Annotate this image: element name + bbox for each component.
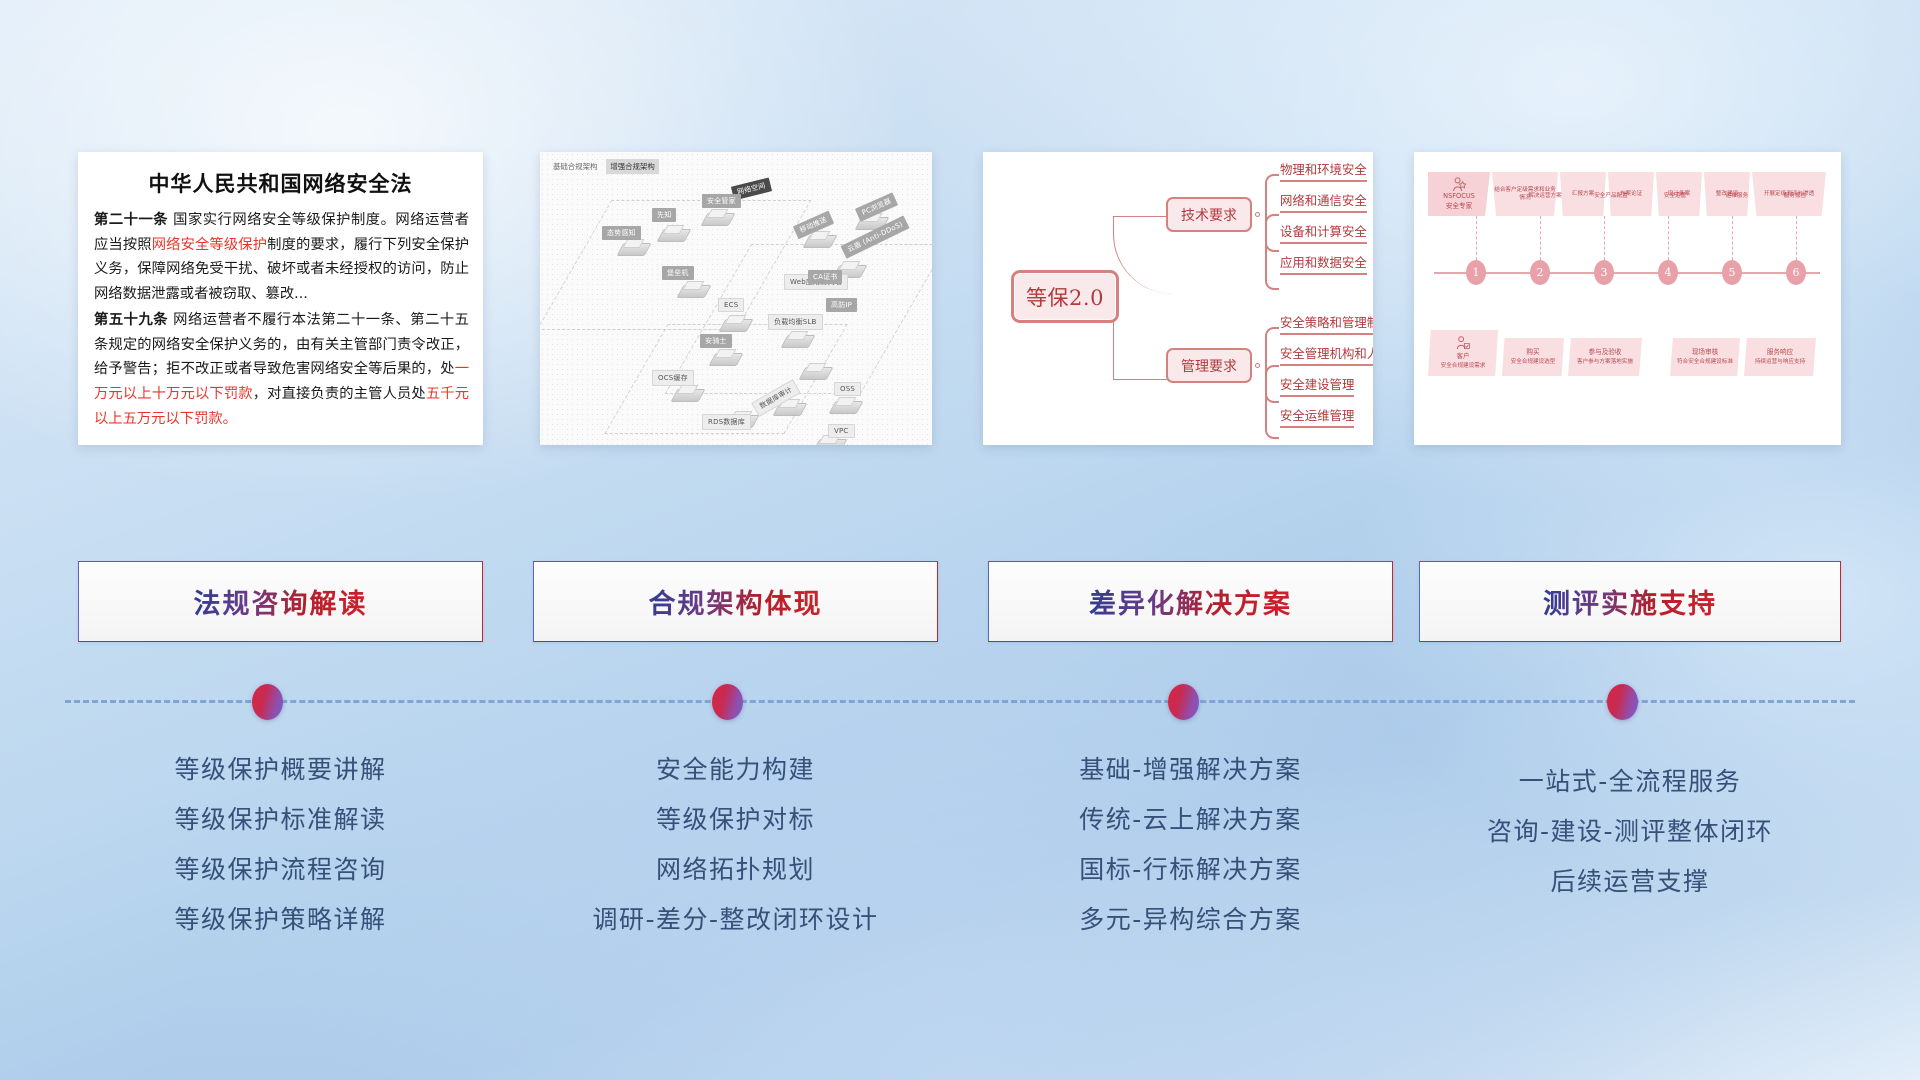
node-anti-ddos-ip: 高防IP xyxy=(826,298,857,312)
connector-technical-leaves-lower xyxy=(1265,214,1279,290)
card-cloud-architecture: 基础合规架构 增强合规架构 网络空间 xyxy=(540,152,932,445)
timeline-step-5[interactable]: 5 xyxy=(1722,260,1742,285)
law-article-21: 第二十一条 国家实行网络安全等级保护制度。网络运营者应当按照网络安全等级保护制度… xyxy=(94,208,469,306)
step-label-1: 解决运营方案 xyxy=(1520,186,1570,206)
timeline-stem-2 xyxy=(1540,216,1541,260)
timeline-step-4[interactable]: 4 xyxy=(1658,260,1678,285)
mindmap-branch-management: 管理要求 xyxy=(1166,348,1252,383)
step-label-3: 安全运营 xyxy=(1652,186,1698,206)
node-ecs: ECS xyxy=(718,298,744,312)
icon-cube-bastion xyxy=(680,280,706,297)
article-21-label: 第二十一条 xyxy=(94,212,168,228)
mindmap-leaf-operation: 安全运维管理 xyxy=(1280,408,1354,428)
timeline-stem-1 xyxy=(1476,216,1477,260)
footer-chip-service-response: 服务响应 持续运营与响应支持 xyxy=(1744,338,1816,376)
card-service-timeline: NSFOCUS 安全专家 结合客户定级需求和业务情况 汇报方案 方案论证 设计备… xyxy=(1414,152,1841,445)
bullet-item: 等级保护概要讲解 xyxy=(78,745,483,795)
mindmap-collapse-dot-management[interactable] xyxy=(1255,363,1260,368)
bullet-item: 网络拓扑规划 xyxy=(533,845,938,895)
node-security-agent: 安骑士 xyxy=(700,334,732,348)
icon-cube-slb xyxy=(784,330,810,347)
heading-label-4: 测评实施支持 xyxy=(1543,582,1717,621)
heading-box-assessment-support[interactable]: 测评实施支持 xyxy=(1419,561,1841,642)
bullet-item: 传统-云上解决方案 xyxy=(988,795,1393,845)
mindmap-leaf-policy: 安全策略和管理制度 xyxy=(1280,315,1373,335)
node-oss: OSS xyxy=(834,382,861,396)
timeline-axis xyxy=(1434,272,1820,274)
nsfocus-expert-line1: NSFOCUS xyxy=(1443,192,1475,202)
icon-cube-xianzhi xyxy=(660,224,686,241)
bullet-item: 调研-差分-整改闭环设计 xyxy=(533,895,938,945)
mindmap-collapse-dot-technical[interactable] xyxy=(1255,212,1260,217)
tab-enhanced-compliance[interactable]: 增强合规架构 xyxy=(606,159,658,174)
bullet-item: 咨询-建设-测评整体闭环 xyxy=(1419,807,1841,857)
bullet-item: 等级保护标准解读 xyxy=(78,795,483,845)
icon-cube-ecs xyxy=(722,314,748,331)
bullet-item: 国标-行标解决方案 xyxy=(988,845,1393,895)
service-timeline: NSFOCUS 安全专家 结合客户定级需求和业务情况 汇报方案 方案论证 设计备… xyxy=(1414,152,1841,445)
heading-box-regulatory-consulting[interactable]: 法规咨询解读 xyxy=(78,561,483,642)
bullet-item: 安全能力构建 xyxy=(533,745,938,795)
expert-person-icon xyxy=(1452,177,1466,192)
bullet-column-3: 基础-增强解决方案 传统-云上解决方案 国标-行标解决方案 多元-异构综合方案 xyxy=(988,745,1393,945)
node-rds-database: RDS数据库 xyxy=(702,414,751,430)
bullet-item: 等级保护对标 xyxy=(533,795,938,845)
heading-box-differentiated-solution[interactable]: 差异化解决方案 xyxy=(988,561,1393,642)
node-ocs-cache: OCS缓存 xyxy=(652,370,694,386)
architecture-tabs: 基础合规架构 增强合规架构 xyxy=(549,159,659,174)
timeline-marker-3[interactable] xyxy=(1168,684,1199,720)
article-21-highlight: 网络安全等级保护 xyxy=(152,237,267,253)
mindmap-leaf-device: 设备和计算安全 xyxy=(1280,224,1367,244)
nsfocus-expert-chip: NSFOCUS 安全专家 xyxy=(1428,172,1490,216)
nsfocus-expert-line2: 安全专家 xyxy=(1446,202,1472,212)
node-vpc: VPC xyxy=(828,424,855,438)
bullet-column-2: 安全能力构建 等级保护对标 网络拓扑规划 调研-差分-整改闭环设计 xyxy=(533,745,938,945)
step-label-5: 服务报告 xyxy=(1772,186,1818,206)
node-ca-certificate: CA证书 xyxy=(808,270,842,284)
law-article-59: 第五十九条 网络运营者不履行本法第二十一条、第二十五条规定的网络安全保护义务的，… xyxy=(94,308,469,431)
heading-label-3: 差异化解决方案 xyxy=(1089,582,1292,621)
mindmap-branch-technical: 技术要求 xyxy=(1166,197,1252,232)
mindmap-diagram: 等保2.0 技术要求 物理和环境安全 网络和通信安全 设备和计算安全 应用和数据… xyxy=(983,152,1373,445)
connector-management-leaves-lower xyxy=(1265,365,1279,439)
footer-chip-purchase: 购买 安全合规建设选型 xyxy=(1502,338,1564,376)
heading-box-compliance-architecture[interactable]: 合规架构体现 xyxy=(533,561,938,642)
bullet-item: 等级保护流程咨询 xyxy=(78,845,483,895)
mindmap-leaf-build: 安全建设管理 xyxy=(1280,377,1354,397)
tab-basic-compliance[interactable]: 基础合规架构 xyxy=(549,159,601,174)
node-load-balancer: 负载均衡SLB xyxy=(768,314,823,330)
mindmap-root: 等保2.0 xyxy=(1011,270,1119,323)
icon-cube-situational xyxy=(620,238,646,255)
timeline-step-2[interactable]: 2 xyxy=(1530,260,1550,285)
timeline-stem-3 xyxy=(1604,216,1605,260)
customer-person-icon xyxy=(1456,336,1470,352)
mindmap-leaf-org: 安全管理机构和人员 xyxy=(1280,346,1373,366)
card-law-document: 中华人民共和国网络安全法 第二十一条 国家实行网络安全等级保护制度。网络运营者应… xyxy=(78,152,483,445)
timeline-marker-1[interactable] xyxy=(252,684,283,720)
timeline-step-1[interactable]: 1 xyxy=(1466,260,1486,285)
timeline-stem-4 xyxy=(1668,216,1669,260)
icon-cube-oss xyxy=(832,396,858,413)
bullet-item: 基础-增强解决方案 xyxy=(988,745,1393,795)
icon-cube-agent xyxy=(712,348,738,365)
footer-chip-participate: 参与及验收 客户参与方案落地实施 xyxy=(1568,338,1642,376)
architecture-diagram: 基础合规架构 增强合规架构 网络空间 xyxy=(540,152,932,445)
timeline-marker-2[interactable] xyxy=(712,684,743,720)
bullet-item: 多元-异构综合方案 xyxy=(988,895,1393,945)
icon-cube-ocs xyxy=(674,384,700,401)
mindmap-leaf-network: 网络和通信安全 xyxy=(1280,193,1367,213)
bullet-item: 后续运营支撑 xyxy=(1419,857,1841,907)
node-situational-awareness: 态势感知 xyxy=(602,226,641,240)
node-bastion-host: 堡垒机 xyxy=(662,266,694,280)
timeline-marker-4[interactable] xyxy=(1607,684,1638,720)
card-mindmap: 等保2.0 技术要求 物理和环境安全 网络和通信安全 设备和计算安全 应用和数据… xyxy=(983,152,1373,445)
slide-canvas: 中华人民共和国网络安全法 第二十一条 国家实行网络安全等级保护制度。网络运营者应… xyxy=(0,0,1920,1080)
mindmap-leaf-physical: 物理和环境安全 xyxy=(1280,162,1367,182)
icon-cube-guardian xyxy=(704,208,730,225)
law-body: 第二十一条 国家实行网络安全等级保护制度。网络运营者应当按照网络安全等级保护制度… xyxy=(78,198,483,431)
timeline-stem-5 xyxy=(1732,216,1733,260)
bullet-item: 等级保护策略详解 xyxy=(78,895,483,945)
bullet-column-1: 等级保护概要讲解 等级保护标准解读 等级保护流程咨询 等级保护策略详解 xyxy=(78,745,483,945)
law-title: 中华人民共和国网络安全法 xyxy=(78,168,483,198)
bullet-item: 一站式-全流程服务 xyxy=(1419,757,1841,807)
footer-chip-customer: 客户 安全合规建设需求 xyxy=(1428,330,1498,376)
timeline-step-3[interactable]: 3 xyxy=(1594,260,1614,285)
step-label-2: 安全产品配置 xyxy=(1586,186,1636,206)
article-59-label: 第五十九条 xyxy=(94,312,168,328)
step-label-4: 运维服务 xyxy=(1714,186,1760,206)
timeline-step-6[interactable]: 6 xyxy=(1786,260,1806,285)
heading-label-2: 合规架构体现 xyxy=(649,582,823,621)
node-xianzhi: 先知 xyxy=(652,208,676,222)
heading-label-1: 法规咨询解读 xyxy=(194,582,368,621)
node-security-steward: 安全管家 xyxy=(702,194,741,208)
timeline-stem-6 xyxy=(1796,216,1797,260)
bullet-column-4: 一站式-全流程服务 咨询-建设-测评整体闭环 后续运营支撑 xyxy=(1419,757,1841,907)
icon-cube-waf xyxy=(802,362,828,379)
timeline-dashed-rail xyxy=(65,700,1855,703)
article-59-text-b: ，对直接负责的主管人员处 xyxy=(253,386,426,402)
footer-chip-onsite-review: 现场审核 符合安全合规建设标准 xyxy=(1670,338,1740,376)
mindmap-leaf-application: 应用和数据安全 xyxy=(1280,255,1367,275)
